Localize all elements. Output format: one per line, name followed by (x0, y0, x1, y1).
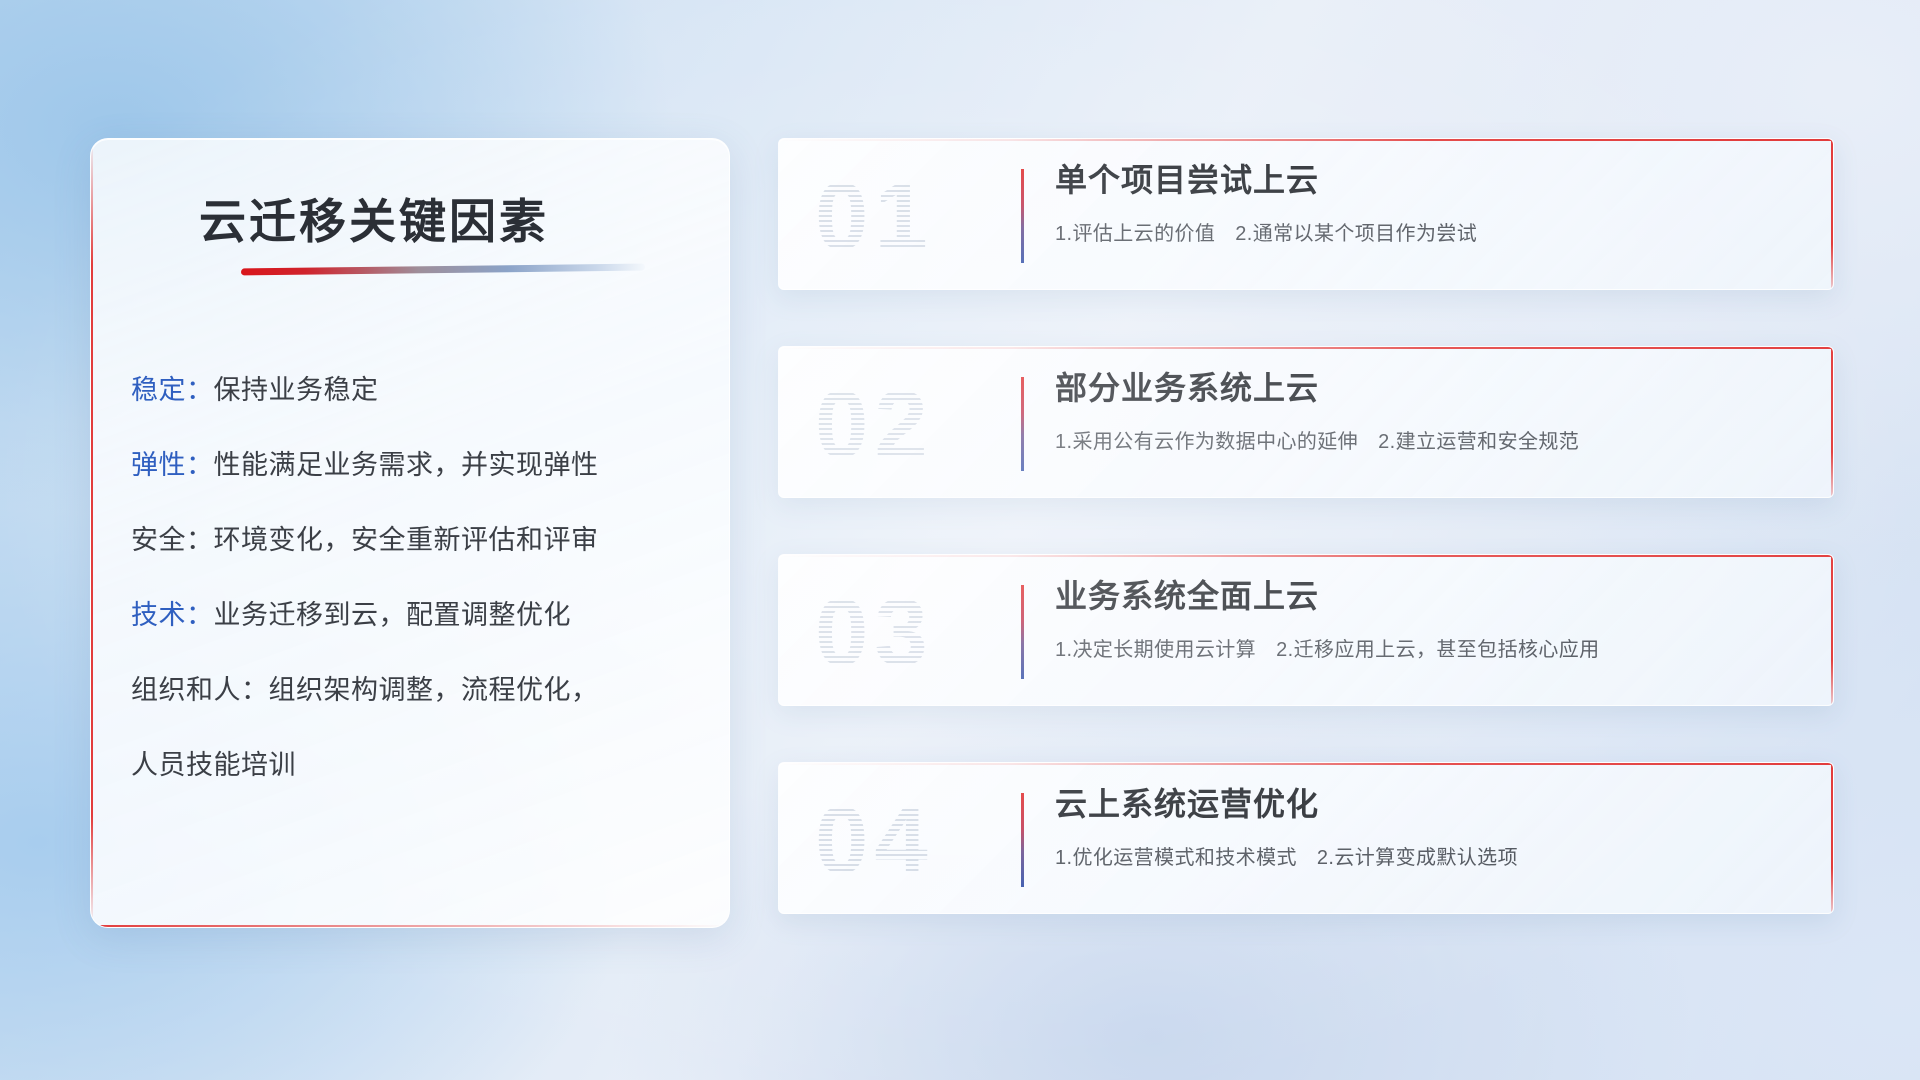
stage-number: 03 (815, 581, 995, 685)
factor-row: 弹性：性能满足业务需求，并实现弹性 (131, 452, 699, 479)
stage-divider-bar (1021, 169, 1024, 263)
factor-row: 技术：业务迁移到云，配置调整优化 (131, 602, 699, 629)
factor-text: 组织架构调整，流程优化， (269, 675, 599, 705)
factor-row: 组织和人：组织架构调整，流程优化， (131, 677, 699, 704)
slide-canvas: 云迁移关键因素 稳定：保持业务稳定弹性：性能满足业务需求，并实现弹性安全：环境变… (0, 0, 1920, 1080)
stage-title: 云上系统运营优化 (1055, 785, 1803, 823)
factor-text: 性能满足业务需求，并实现弹性 (214, 450, 599, 480)
stage-card-body: 单个项目尝试上云1.评估上云的价值2.通常以某个项目作为尝试 (1055, 161, 1803, 246)
stage-divider-bar (1021, 793, 1024, 887)
stage-description: 1.优化运营模式和技术模式2.云计算变成默认选项 (1055, 841, 1803, 870)
page-title: 云迁移关键因素 (199, 183, 549, 252)
factor-label: 技术： (131, 600, 214, 630)
stage-card[interactable]: 01单个项目尝试上云1.评估上云的价值2.通常以某个项目作为尝试 (778, 138, 1834, 290)
stage-number: 02 (815, 373, 995, 477)
factor-text: 环境变化，安全重新评估和评审 (214, 525, 599, 555)
factor-row: 稳定：保持业务稳定 (131, 377, 699, 404)
stage-point: 2.通常以某个项目作为尝试 (1235, 223, 1477, 245)
stage-description: 1.决定长期使用云计算2.迁移应用上云，甚至包括核心应用 (1055, 633, 1803, 662)
stage-point: 2.云计算变成默认选项 (1317, 847, 1518, 869)
factor-row: 人员技能培训 (131, 752, 699, 779)
stage-card-list: 01单个项目尝试上云1.评估上云的价值2.通常以某个项目作为尝试02部分业务系统… (778, 138, 1834, 914)
stage-card[interactable]: 03业务系统全面上云1.决定长期使用云计算2.迁移应用上云，甚至包括核心应用 (778, 554, 1834, 706)
stage-divider-bar (1021, 377, 1024, 471)
stage-point: 2.迁移应用上云，甚至包括核心应用 (1276, 639, 1599, 661)
factor-text: 人员技能培训 (131, 750, 296, 780)
factor-label: 组织和人： (131, 675, 269, 705)
factor-label: 稳定： (131, 375, 214, 405)
stage-card-body: 部分业务系统上云1.采用公有云作为数据中心的延伸2.建立运营和安全规范 (1055, 369, 1803, 454)
stage-title: 部分业务系统上云 (1055, 369, 1803, 407)
stage-title: 业务系统全面上云 (1055, 577, 1803, 615)
stage-card-body: 云上系统运营优化1.优化运营模式和技术模式2.云计算变成默认选项 (1055, 785, 1803, 870)
factor-list: 稳定：保持业务稳定弹性：性能满足业务需求，并实现弹性安全：环境变化，安全重新评估… (131, 377, 699, 779)
stage-card[interactable]: 02部分业务系统上云1.采用公有云作为数据中心的延伸2.建立运营和安全规范 (778, 346, 1834, 498)
stage-number: 01 (815, 165, 995, 269)
stage-card-body: 业务系统全面上云1.决定长期使用云计算2.迁移应用上云，甚至包括核心应用 (1055, 577, 1803, 662)
stage-number: 04 (815, 789, 995, 893)
stage-divider-bar (1021, 585, 1024, 679)
stage-point: 1.决定长期使用云计算 (1055, 639, 1256, 661)
stage-description: 1.评估上云的价值2.通常以某个项目作为尝试 (1055, 217, 1803, 246)
stage-point: 1.评估上云的价值 (1055, 223, 1215, 245)
title-underline-rule (241, 264, 645, 276)
factor-text: 业务迁移到云，配置调整优化 (214, 600, 572, 630)
stage-title: 单个项目尝试上云 (1055, 161, 1803, 199)
key-factors-panel: 云迁移关键因素 稳定：保持业务稳定弹性：性能满足业务需求，并实现弹性安全：环境变… (90, 138, 730, 928)
factor-text: 保持业务稳定 (214, 375, 379, 405)
factor-label: 弹性： (131, 450, 214, 480)
stage-point: 1.优化运营模式和技术模式 (1055, 847, 1297, 869)
stage-card[interactable]: 04云上系统运营优化1.优化运营模式和技术模式2.云计算变成默认选项 (778, 762, 1834, 914)
factor-row: 安全：环境变化，安全重新评估和评审 (131, 527, 699, 554)
stage-point: 2.建立运营和安全规范 (1378, 431, 1579, 453)
factor-label: 安全： (131, 525, 214, 555)
stage-description: 1.采用公有云作为数据中心的延伸2.建立运营和安全规范 (1055, 425, 1803, 454)
stage-point: 1.采用公有云作为数据中心的延伸 (1055, 431, 1358, 453)
